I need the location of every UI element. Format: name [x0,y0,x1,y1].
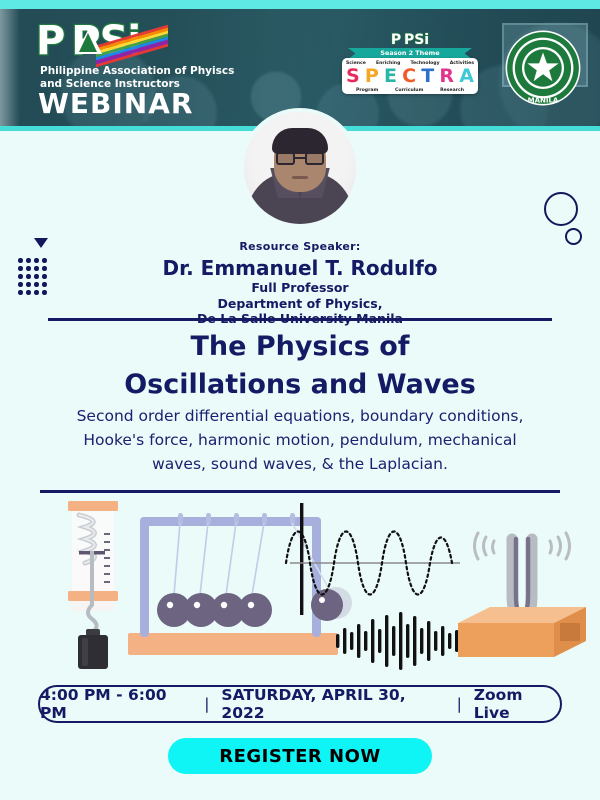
spectra-card: Science Enriching Technology Activities … [342,58,478,94]
avatar-image [244,112,356,224]
details-separator: | [445,695,474,713]
session-date: SATURDAY, APRIL 30, 2022 [221,686,444,722]
spectra-brand: P PSi [340,33,480,47]
tuning-fork-illustration [458,533,586,657]
session-platform: Zoom Live [474,686,560,722]
speaker-name: Dr. Emmanuel T. Rodulfo [0,256,600,280]
page-title: The Physics of Oscillations and Waves [0,328,600,405]
avatar-mouth [292,176,308,179]
register-now-button[interactable]: REGISTER NOW [168,738,432,774]
physics-illustrations [0,495,600,675]
spectra-letter: P [365,66,379,86]
spectra-letter: S [346,66,360,86]
spectra-bottom-word: Program [356,88,378,93]
title-line-2: Oscillations and Waves [0,366,600,404]
spectra-bottom-word: Curriculum [395,88,423,93]
details-separator: | [192,695,221,713]
event-type-label: WEBINAR [38,87,193,120]
session-description: Second order differential equations, bou… [60,404,540,476]
spectra-letter: A [459,66,474,86]
spectra-theme-logo: P PSi Season 2 Theme Science Enriching T… [340,33,480,95]
header-left-fade [0,9,20,131]
session-details-pill: 4:00 PM - 6:00 PM | SATURDAY, APRIL 30, … [38,685,562,723]
newtons-cradle-illustration [128,513,352,655]
avatar-hair [272,128,328,154]
spectra-bottom-words: Program Curriculum Research [346,88,474,93]
svg-text:MANILA: MANILA [528,95,559,104]
speaker-department: Department of Physics, [0,296,600,312]
spring-scale-illustration [68,501,118,669]
glasses-icon [276,152,324,165]
papsi-logo: P PSi Philippine Association of Phyiscs … [36,21,226,61]
webinar-poster: P PSi Philippine Association of Phyiscs … [0,0,600,800]
top-accent-strip [0,0,600,9]
audio-waveform-illustration [336,612,465,670]
divider-bottom [40,490,560,493]
spectra-letter: T [421,66,434,86]
title-line-1: The Physics of [0,328,600,366]
spectra-letter: E [384,66,397,86]
spectra-bottom-word: Research [440,88,464,93]
outline-circle-large-decor [544,192,578,226]
divider-top [48,318,552,321]
spectra-letters: S P E C T R A [346,66,474,86]
speaker-rank: Full Professor [0,280,600,296]
spectra-letter: R [439,66,454,86]
speaker-role-label: Resource Speaker: [0,240,600,253]
prism-triangle-inner-icon [79,33,97,52]
dlsu-seal-icon: MANILA [504,29,582,107]
speaker-info: Resource Speaker: Dr. Emmanuel T. Rodulf… [0,240,600,327]
session-time: 4:00 PM - 6:00 PM [40,686,192,722]
spectra-letter: C [402,66,416,86]
speaker-avatar [240,108,360,228]
